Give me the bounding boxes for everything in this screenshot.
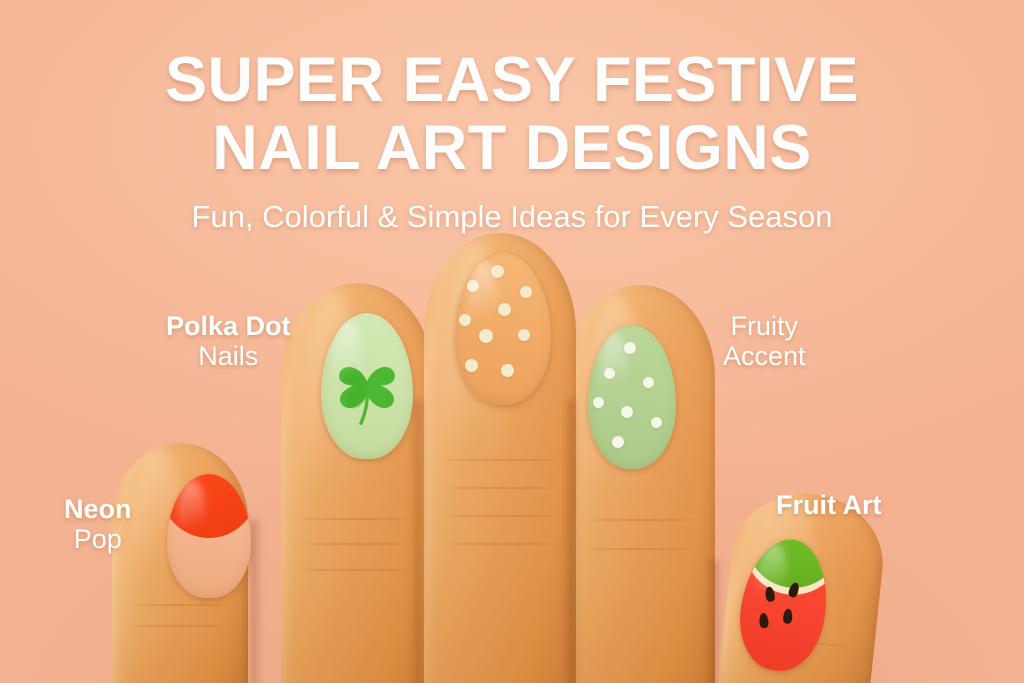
polka-dot	[624, 342, 636, 354]
label-polka-dot-line2: Nails	[166, 341, 291, 371]
label-neon-line2: Pop	[64, 524, 132, 554]
polka-dot	[651, 417, 662, 428]
knuckle-crease	[290, 569, 424, 571]
polka-dot	[612, 436, 624, 448]
polka-dot	[604, 368, 615, 379]
label-polka-dot-nails: Polka Dot Nails	[166, 311, 291, 371]
hand-illustration	[0, 0, 1024, 683]
label-fruity-line2: Accent	[723, 341, 806, 371]
polka-dot	[479, 329, 493, 343]
knuckle-crease	[433, 487, 567, 489]
polka-dot	[621, 406, 633, 418]
watermelon-seed	[783, 608, 793, 624]
label-fruity-line1: Fruity	[723, 311, 806, 341]
nail-art-poster: SUPER EASY FESTIVE NAIL ART DESIGNS Fun,…	[0, 0, 1024, 683]
polka-dot	[501, 364, 514, 377]
polka-dot	[643, 377, 654, 388]
polka-dot	[520, 286, 532, 298]
polka-dot	[593, 397, 604, 408]
label-fruit-art-line1: Fruit Art	[776, 490, 881, 520]
polka-dot	[467, 280, 479, 292]
polka-dot	[518, 329, 530, 341]
neon-tip-band	[167, 474, 251, 538]
label-neon-pop: Neon Pop	[64, 494, 132, 554]
polka-dot	[465, 359, 478, 372]
knuckle-crease	[433, 515, 567, 517]
knuckle-crease	[433, 543, 567, 545]
polka-dot	[491, 265, 504, 278]
label-neon-line1: Neon	[64, 494, 132, 524]
knuckle-crease	[120, 625, 240, 627]
polka-dot	[498, 303, 511, 316]
label-polka-dot-line1: Polka Dot	[166, 311, 291, 341]
polka-dot	[459, 314, 471, 326]
knuckle-crease	[433, 459, 567, 461]
label-fruity-accent: Fruity Accent	[723, 311, 806, 371]
label-fruit-art: Fruit Art	[776, 490, 881, 520]
four-leaf-clover-icon	[330, 341, 404, 427]
nail-neon-pop	[167, 474, 251, 598]
